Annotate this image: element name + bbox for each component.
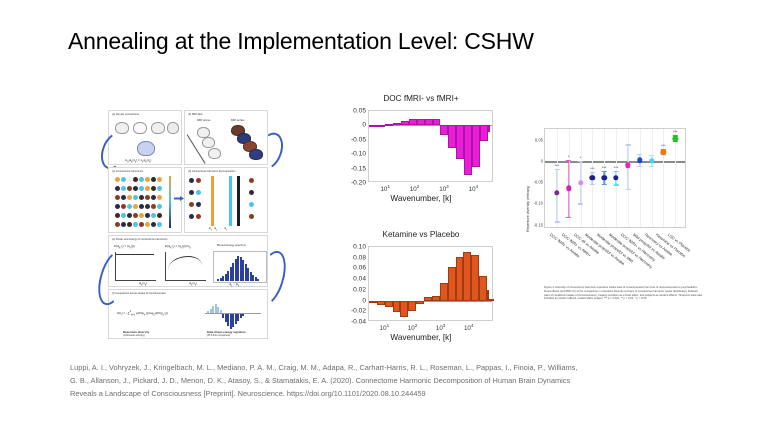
y-tick-label: 0.04 [353, 276, 366, 283]
energy-signature-sub: (PLS first component) [207, 334, 230, 337]
forest-caption: Figure 4. Diversity of connectome harmon… [544, 286, 704, 301]
forest-gridline [640, 129, 641, 227]
chart-doc-fmri-xlabel: Wavenumber, [k] [336, 194, 506, 203]
bar [456, 257, 464, 300]
methods-panel-d-caption: (d) Connectome harmonic decomposition [188, 170, 235, 173]
citation: Luppi, A. I., Vohryzek, J., Kringelbach,… [70, 361, 714, 401]
forest-caption-l1: Figure 4. Diversity of connectome harmon… [544, 286, 658, 289]
bar [432, 296, 440, 300]
significance-marker: * [568, 154, 570, 159]
chart-ketamine-xlabel: Wavenumber, [k] [336, 333, 506, 342]
bar [377, 125, 385, 127]
y-tick-label: -0.15 [351, 165, 366, 172]
significance-marker: * [580, 155, 582, 160]
y-tick-label: 0 [362, 122, 366, 129]
slide: Annealing at the Implementation Level: C… [0, 0, 768, 432]
bar [463, 252, 471, 300]
chart-ketamine-title: Ketamine vs Placebo [336, 230, 506, 239]
y-tick-label: 0.10 [353, 244, 366, 251]
forest-y-tick: 0.05 [535, 137, 543, 142]
data-point [613, 175, 618, 180]
x-tick-label: 103 [436, 323, 445, 332]
forest-caption-l5: random effects, nested within subject. *… [558, 297, 646, 300]
bar [440, 125, 448, 135]
bar [456, 125, 464, 159]
fmri-surface-label: fMRI surface [231, 119, 245, 122]
bar [448, 267, 456, 300]
x-tick-label: 102 [410, 184, 419, 193]
bar [385, 124, 393, 126]
x-tick-label: 101 [380, 184, 389, 193]
bar [433, 119, 441, 125]
y-tick-label: 0.05 [353, 108, 366, 115]
chart-doc-fmri: DOC fMRI- vs fMRI+ 0.050-0.05-0.10-0.15-… [336, 94, 506, 206]
significance-marker: *** [673, 129, 678, 134]
x-tick-label: 104 [464, 323, 473, 332]
bar [471, 255, 479, 301]
chart-doc-fmri-title: DOC fMRI- vs fMRI+ [336, 94, 506, 103]
forest-y-tick: -0.05 [533, 180, 543, 185]
y-tick-label: -0.10 [351, 151, 366, 158]
methods-panel-e-caption: (e) Power and energy of connectome harmo… [112, 238, 167, 241]
chart-ketamine-plot: 0.100.080.060.040.020-0.02-0.04101102103… [368, 246, 493, 321]
citation-line-1: Luppi, A. I., Vohryzek, J., Kringelbach,… [70, 361, 714, 374]
bar [448, 125, 456, 147]
bar [369, 301, 377, 303]
bar [488, 125, 490, 131]
bar [409, 119, 417, 125]
methods-panel-e: (e) Power and energy of connectome harmo… [108, 235, 268, 287]
forest-gridline [675, 129, 676, 227]
methods-panel-f: (f) Comparison across states of consciou… [108, 289, 268, 339]
bar [480, 125, 488, 141]
methods-panel-b: (b) MRI data fMRI volume fMRI surface [184, 110, 268, 165]
forest-ylabel: Repertoire diversity (entropy) [526, 186, 530, 232]
x-tick-label: 104 [469, 184, 478, 193]
y-tick-label: 0.08 [353, 254, 366, 261]
y-tick-label: 0.02 [353, 286, 366, 293]
x-tick-label: 103 [439, 184, 448, 193]
data-point [625, 162, 630, 167]
forest-y-tick: -0.10 [533, 201, 543, 206]
y-tick-label: -0.02 [351, 308, 366, 315]
page-title: Annealing at the Implementation Level: C… [68, 28, 534, 55]
y-tick-label: -0.20 [351, 180, 366, 187]
chart-repertoire-diversity: Repertoire diversity (entropy) *********… [524, 124, 690, 314]
bar [377, 301, 385, 305]
significance-marker: *** [661, 143, 666, 148]
bar [416, 301, 424, 304]
methods-figure: (a) Human connectome AGψk(λk) = λkψk(λk)… [108, 110, 268, 325]
x-tick-label: 102 [408, 323, 417, 332]
methods-panel-b-caption: (b) MRI data [188, 113, 202, 116]
methods-panel-c: (c) Connectome harmonics [108, 167, 182, 233]
bar [440, 283, 448, 300]
bar [393, 123, 401, 125]
methods-panel-a-caption: (a) Human connectome [112, 113, 139, 116]
bar [424, 297, 432, 300]
citation-line-2: G. B., Allanson, J., Pickard, J. D., Men… [70, 374, 714, 387]
bar [369, 125, 377, 127]
bar [401, 121, 409, 125]
data-point [649, 158, 654, 163]
bar [408, 301, 416, 312]
forest-gridline [652, 129, 653, 227]
y-tick-label: 0.06 [353, 265, 366, 272]
y-tick-label: -0.05 [351, 136, 366, 143]
bar [393, 301, 401, 313]
significance-marker: *** [614, 165, 619, 170]
methods-panel-d: (d) Connectome harmonic decomposition ψ1… [184, 167, 268, 233]
bar [417, 119, 425, 126]
y-tick-label: -0.04 [351, 319, 366, 326]
bar [472, 125, 480, 167]
error-bar [556, 169, 557, 223]
significance-marker: *** [602, 165, 607, 170]
x-tick-label: 101 [380, 323, 389, 332]
bar [400, 301, 408, 317]
data-point [578, 180, 583, 185]
chart-ketamine: Ketamine vs Placebo 0.100.080.060.040.02… [336, 230, 506, 348]
significance-marker: *** [554, 163, 559, 168]
data-point [601, 175, 606, 180]
bar [487, 299, 494, 301]
methods-panel-c-caption: (c) Connectome harmonics [112, 170, 143, 173]
data-point [554, 190, 559, 195]
chart-doc-fmri-plot: 0.050-0.05-0.10-0.15-0.20101102103104 [368, 110, 493, 182]
bar [425, 119, 433, 125]
bar [464, 125, 472, 175]
bar [385, 301, 393, 307]
significance-marker: *** [590, 166, 595, 171]
data-point [590, 175, 595, 180]
repertoire-diversity-sub: (continuous entropy) [123, 334, 145, 337]
forest-y-tick: 0 [541, 158, 543, 163]
data-point [566, 185, 571, 190]
binned-energy-label: Binned energy spectrum [217, 244, 246, 247]
forest-y-tick: -0.15 [533, 222, 543, 227]
bar [479, 276, 487, 300]
y-tick-label: 0 [362, 297, 366, 304]
citation-line-3: Reveals a Landscape of Consciousness [Pr… [70, 387, 714, 400]
